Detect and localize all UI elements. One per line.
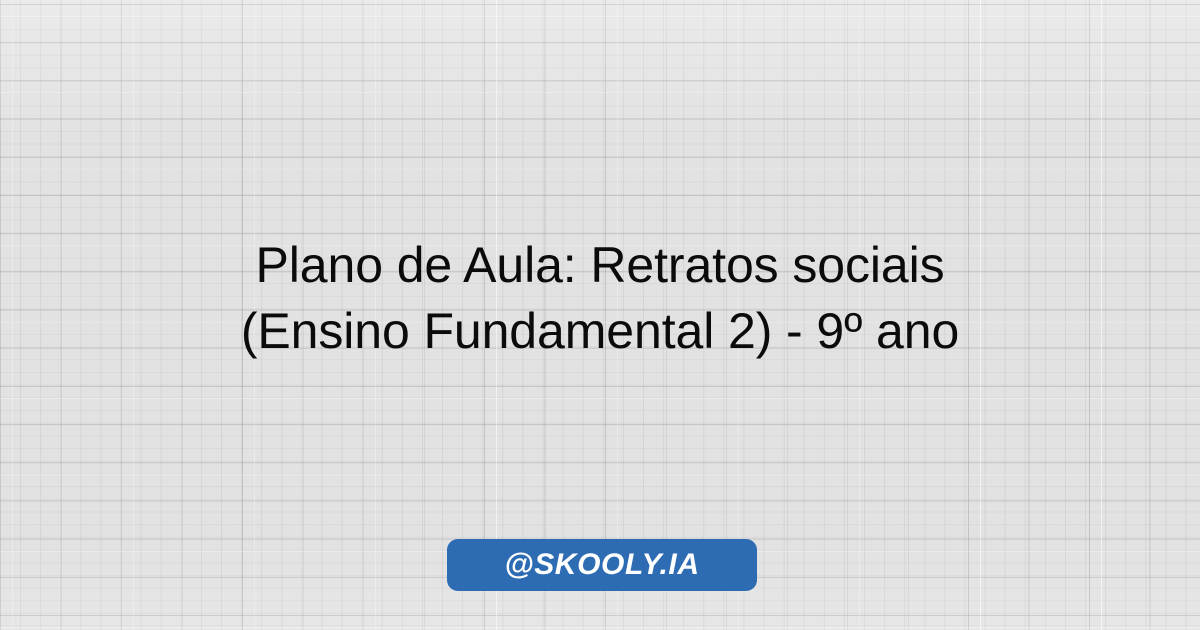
page-title-line-2: (Ensino Fundamental 2) - 9º ano	[0, 298, 1200, 364]
watermark-badge-label: @SKOOLY.IA	[504, 550, 699, 580]
page-title: Plano de Aula: Retratos sociais (Ensino …	[0, 232, 1200, 364]
page-title-line-1: Plano de Aula: Retratos sociais	[0, 232, 1200, 298]
lesson-plan-card: Plano de Aula: Retratos sociais (Ensino …	[0, 0, 1200, 630]
watermark-badge: @SKOOLY.IA	[447, 539, 757, 591]
